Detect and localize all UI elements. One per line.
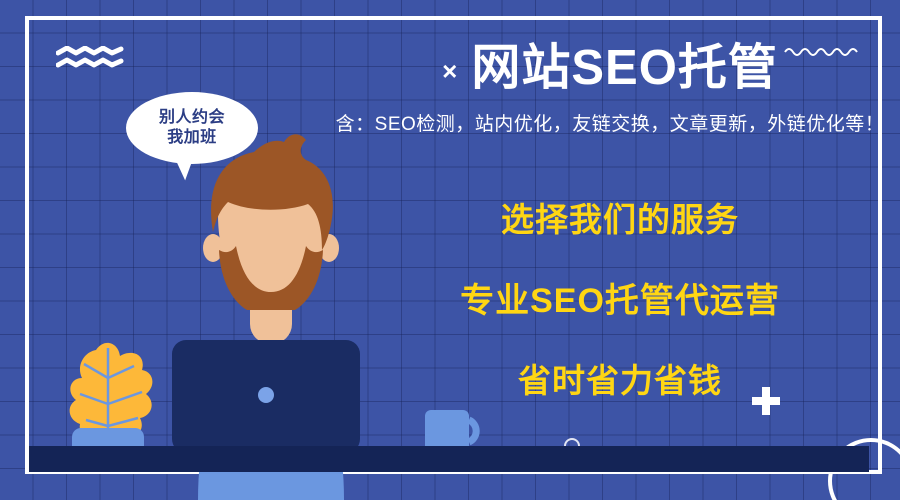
person-illustration bbox=[0, 0, 900, 500]
desk-surface bbox=[29, 450, 869, 472]
laptop-logo bbox=[258, 387, 274, 403]
mouth-shape bbox=[246, 263, 296, 281]
seo-promo-banner: × 网站SEO托管 含：SEO检测，站内优化，友链交换，文章更新，外链优化等！ … bbox=[0, 0, 900, 500]
mug-handle bbox=[469, 420, 476, 442]
